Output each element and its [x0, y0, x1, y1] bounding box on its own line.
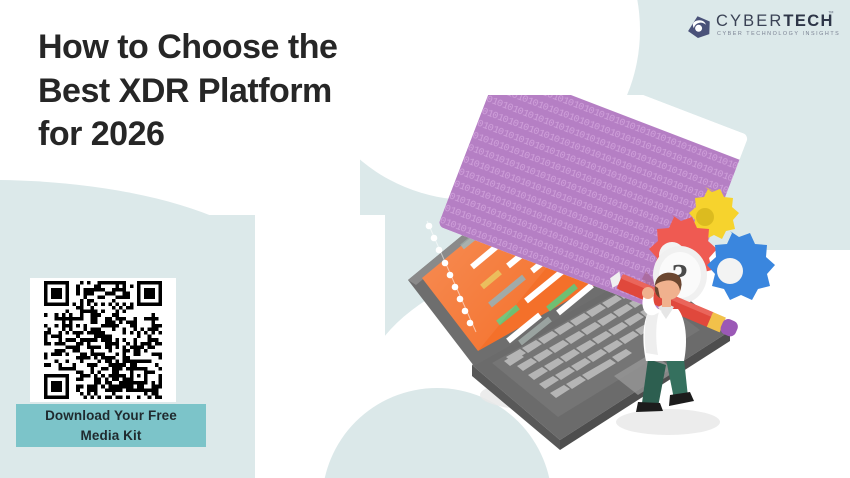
download-media-kit-button-line-1: Download Your Free: [45, 406, 177, 426]
download-media-kit-button[interactable]: Download Your Free Media Kit: [16, 404, 206, 447]
brand-logo[interactable]: CYBERTECH™ CYBER TECHNOLOGY INSIGHTS: [686, 12, 838, 42]
cybertech-droplet-logo-icon: [686, 15, 712, 39]
gear-blue: [707, 231, 775, 300]
qr-code[interactable]: [44, 281, 162, 399]
background-teal-wave: [0, 180, 290, 290]
page-title-line-1: How to Choose the: [38, 26, 418, 70]
page-title: How to Choose the Best XDR Platform for …: [38, 26, 418, 157]
brand-logo-word-tech: TECH: [783, 12, 834, 30]
isometric-laptop-code-review-illustration: 0 1: [400, 95, 850, 478]
poster-canvas: How to Choose the Best XDR Platform for …: [0, 0, 850, 478]
download-media-kit-button-line-2: Media Kit: [81, 426, 142, 446]
brand-logo-tagline: CYBER TECHNOLOGY INSIGHTS: [717, 31, 840, 37]
brand-logo-word-cyber: CYBER: [716, 12, 783, 30]
brand-logo-wordmark: CYBERTECH™: [716, 12, 834, 31]
page-title-line-3: for 2026: [38, 113, 418, 157]
trademark-symbol: ™: [828, 11, 836, 17]
qr-code-card: [30, 278, 176, 402]
page-title-line-2: Best XDR Platform: [38, 70, 418, 114]
